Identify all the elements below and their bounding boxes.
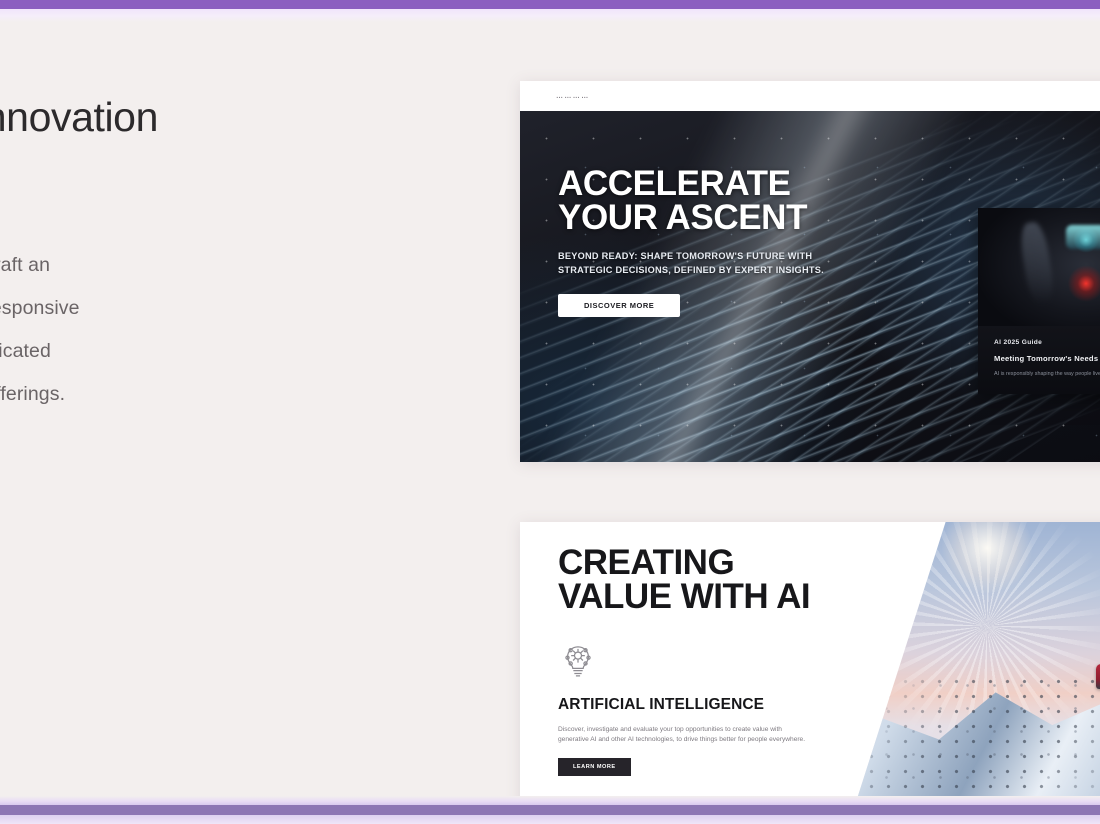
brand-wordmark: ………… [556, 93, 590, 100]
hero-title-line-1: ACCELERATE [558, 167, 908, 201]
top-purple-bar [0, 0, 1100, 9]
bottom-lavender-wash-lower [0, 815, 1100, 824]
hero-cta-button[interactable]: Discover More [558, 294, 680, 317]
lead-paragraph-line: … website and a responsive [0, 287, 332, 330]
hero-banner: ACCELERATE YOUR ASCENT BEYOND READY: SHA… [520, 111, 1100, 462]
hero-title-line-2: YOUR ASCENT [558, 201, 908, 235]
hero-subtitle: BEYOND READY: SHAPE TOMORROW'S FUTURE WI… [558, 249, 908, 277]
lead-paragraph-line: …ectively communicated [0, 330, 332, 373]
lead-paragraph-line: …my role was to craft an [0, 244, 332, 287]
robot-shell-left-icon [1018, 220, 1057, 305]
robot-visor-glow-icon [1066, 225, 1100, 249]
top-purple-frame [0, 0, 1100, 22]
value-copy: Discover, investigate and evaluate your … [558, 725, 810, 746]
value-kicker: ARTIFICIAL INTELLIGENCE [558, 696, 888, 714]
hero-subtitle-line-2: STRATEGIC DECISIONS, DEFINED BY EXPERT I… [558, 263, 908, 277]
hero-preview-card[interactable]: ………… ACCELERATE YOUR ASCENT BEYOND READY… [520, 81, 1100, 462]
hero-content: ACCELERATE YOUR ASCENT BEYOND READY: SHA… [558, 167, 908, 317]
ai-feature-panel[interactable]: AI 2025 Guide Meeting Tomorrow's Needs A… [978, 208, 1100, 394]
bottom-lavender-wash [0, 796, 1100, 805]
top-lavender-wash [0, 9, 1100, 22]
page-canvas: …I and Innovation …my role was to craft … [0, 22, 1100, 796]
value-title-line-1: CREATING [558, 546, 888, 580]
value-preview-card[interactable]: CREATING VALUE WITH AI [520, 522, 1100, 796]
value-title-line-2: VALUE WITH AI [558, 580, 888, 614]
ai-panel-copy: AI is responsibly shaping the way people… [994, 370, 1100, 378]
ai-panel-body: AI 2025 Guide Meeting Tomorrow's Needs A… [978, 326, 1100, 394]
ai-panel-eyebrow: AI 2025 Guide [994, 339, 1100, 346]
card-brand-bar: ………… [520, 81, 1100, 111]
ai-robot-image [978, 208, 1100, 326]
page-title: …I and Innovation [0, 94, 352, 141]
value-card-content: CREATING VALUE WITH AI [558, 546, 888, 776]
bottom-purple-bar [0, 805, 1100, 815]
ai-panel-heading: Meeting Tomorrow's Needs [994, 354, 1100, 363]
lead-paragraph-line: …es and service offerings. [0, 373, 332, 416]
value-cta-button[interactable]: Learn More [558, 758, 631, 776]
climber-figure-icon [1096, 664, 1100, 689]
value-card-inner: CREATING VALUE WITH AI [520, 522, 1100, 796]
value-title: CREATING VALUE WITH AI [558, 546, 888, 615]
hero-title: ACCELERATE YOUR ASCENT [558, 167, 908, 235]
hero-subtitle-line-1: BEYOND READY: SHAPE TOMORROW'S FUTURE WI… [558, 249, 908, 263]
bottom-purple-frame [0, 796, 1100, 824]
lead-paragraph: …my role was to craft an … website and a… [0, 244, 332, 416]
lightbulb-idea-icon [558, 641, 598, 681]
